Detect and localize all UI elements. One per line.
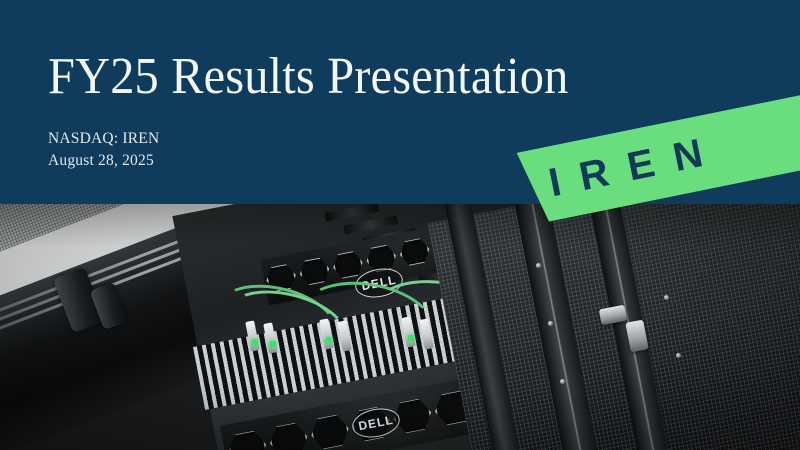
status-led [326,337,332,343]
hex-cell [226,428,270,450]
status-led [252,339,258,345]
hex-cell [308,412,352,450]
rail-screw [536,263,541,268]
ticker-label: NASDAQ: IREN [48,130,159,148]
rail-screw [548,321,553,326]
chassis-slot [325,203,380,222]
hex-cell [297,255,332,287]
rail-screw [676,353,681,358]
server-rack-photo: DELL DELL [0,203,800,450]
rail-screw [560,379,565,384]
status-led [408,335,414,341]
date-label: August 28, 2025 [48,152,154,170]
hex-cell [267,420,311,450]
hex-cell [397,236,432,268]
rail-screw [664,295,669,300]
status-led [270,341,276,347]
page-title: FY25 Results Presentation [48,50,568,105]
chassis-slot [343,215,398,234]
presentation-slide: DELL DELL [0,0,800,450]
